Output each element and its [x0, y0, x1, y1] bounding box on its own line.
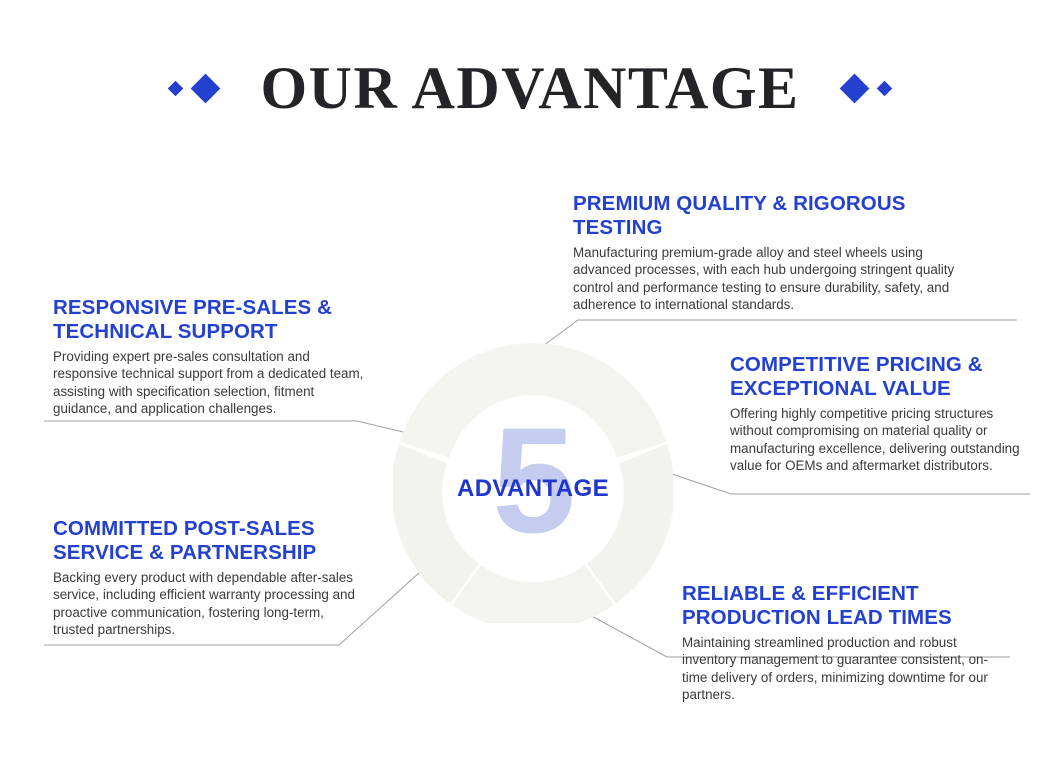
connector-responsive-pre-sales [44, 421, 424, 437]
center-label: ADVANTAGE [385, 475, 681, 503]
block-production-lead-times: RELIABLE & EFFICIENT PRODUCTION LEAD TIM… [682, 582, 1012, 704]
block-body-premium-quality: Manufacturing premium-grade alloy and st… [573, 244, 973, 314]
block-heading-premium-quality: PREMIUM QUALITY & RIGOROUS TESTING [573, 192, 973, 240]
block-heading-responsive-pre-sales: RESPONSIVE PRE-SALES & TECHNICAL SUPPORT [53, 296, 373, 344]
center-donut-graphic: 5 ADVANTAGE [393, 343, 673, 623]
block-responsive-pre-sales: RESPONSIVE PRE-SALES & TECHNICAL SUPPORT… [53, 296, 373, 418]
block-heading-committed-post-sales: COMMITTED POST-SALES SERVICE & PARTNERSH… [53, 517, 363, 565]
block-heading-competitive-pricing: COMPETITIVE PRICING & EXCEPTIONAL VALUE [730, 353, 1030, 401]
block-body-competitive-pricing: Offering highly competitive pricing stru… [730, 405, 1030, 475]
infographic-canvas: OUR ADVANTAGE [0, 0, 1060, 763]
block-committed-post-sales: COMMITTED POST-SALES SERVICE & PARTNERSH… [53, 517, 363, 639]
block-competitive-pricing: COMPETITIVE PRICING & EXCEPTIONAL VALUE … [730, 353, 1030, 475]
block-heading-production-lead-times: RELIABLE & EFFICIENT PRODUCTION LEAD TIM… [682, 582, 1012, 630]
block-body-production-lead-times: Maintaining streamlined production and r… [682, 634, 1012, 704]
block-body-committed-post-sales: Backing every product with dependable af… [53, 569, 363, 639]
block-body-responsive-pre-sales: Providing expert pre-sales consultation … [53, 348, 373, 418]
block-premium-quality: PREMIUM QUALITY & RIGOROUS TESTING Manuf… [573, 192, 973, 314]
connector-competitive-pricing [672, 474, 1030, 494]
